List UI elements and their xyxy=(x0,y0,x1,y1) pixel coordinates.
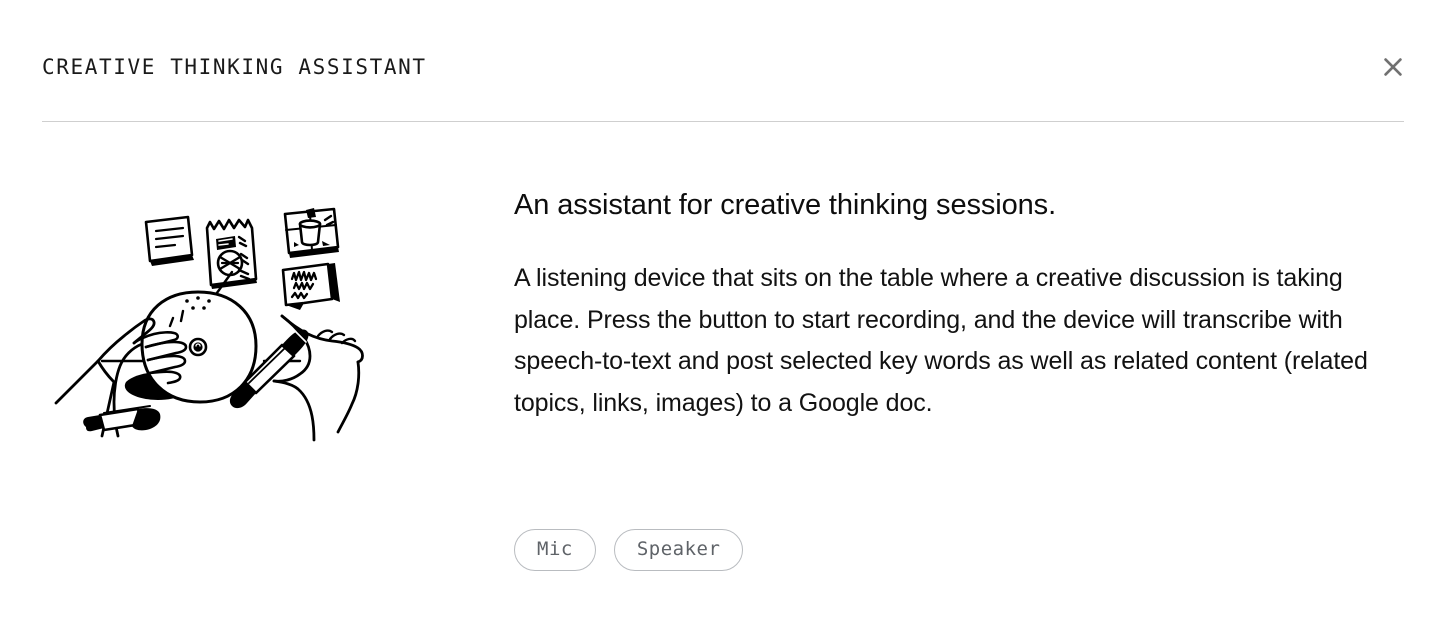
modal-body: An assistant for creative thinking sessi… xyxy=(42,122,1404,640)
description-pane: An assistant for creative thinking sessi… xyxy=(514,122,1404,571)
tag-row: Mic Speaker xyxy=(514,529,1394,571)
tag-pill-mic[interactable]: Mic xyxy=(514,529,596,571)
page-title: CREATIVE THINKING ASSISTANT xyxy=(42,43,427,79)
close-button[interactable] xyxy=(1376,50,1410,84)
illustration-pane xyxy=(42,122,514,484)
creative-thinking-assistant-modal: CREATIVE THINKING ASSISTANT xyxy=(0,0,1446,640)
modal-header: CREATIVE THINKING ASSISTANT xyxy=(42,0,1404,122)
tag-pill-speaker[interactable]: Speaker xyxy=(614,529,744,571)
hand-drawn-listening-device-illustration-icon xyxy=(42,184,394,484)
lede-text: An assistant for creative thinking sessi… xyxy=(514,186,1394,224)
description-text: A listening device that sits on the tabl… xyxy=(514,258,1394,424)
close-icon xyxy=(1382,56,1404,78)
